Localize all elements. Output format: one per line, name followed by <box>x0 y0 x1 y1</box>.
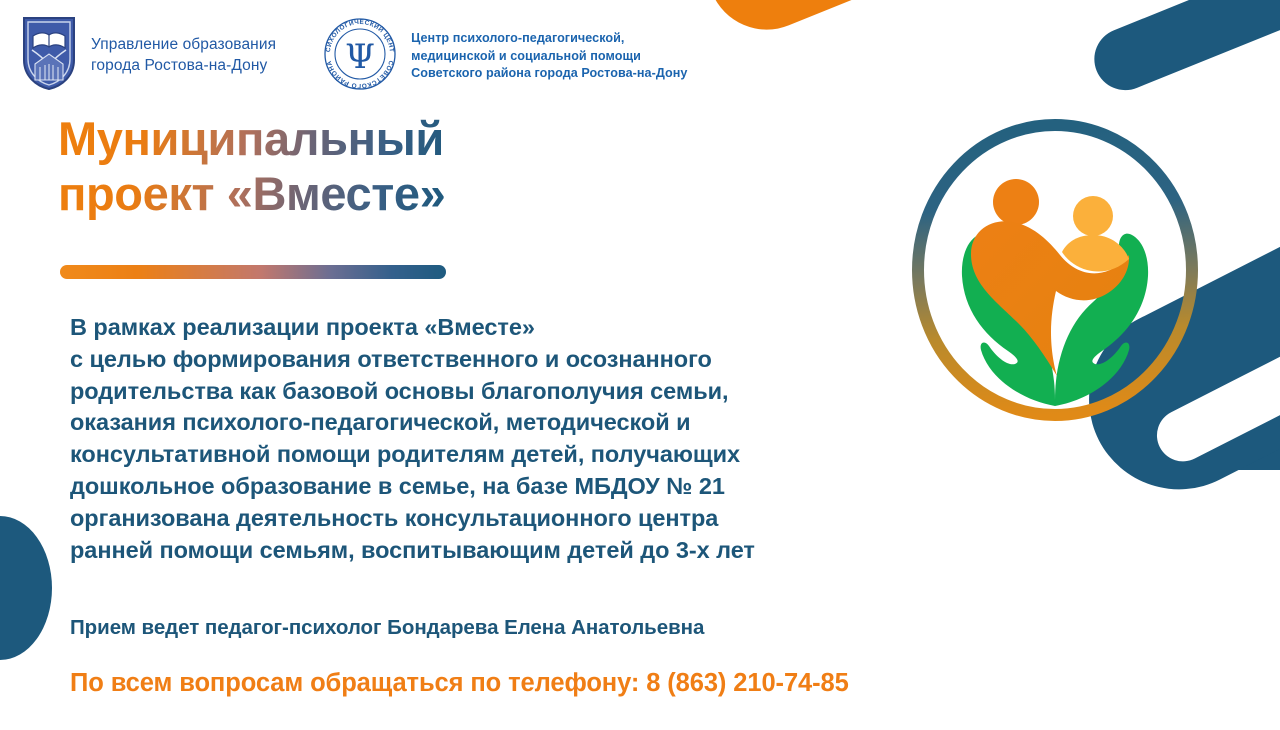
title-divider <box>60 265 446 279</box>
org2-line-2: медицинской и социальной помощи <box>411 48 687 66</box>
logo-child-figure <box>1062 196 1129 272</box>
project-description: В рамках реализации проекта «Вместе» с ц… <box>70 312 755 567</box>
poster-canvas: Управление образования города Ростова-на… <box>0 0 1280 730</box>
org1-line-1: Управление образования <box>91 35 276 55</box>
org2-line-3: Советского района города Ростова-на-Дону <box>411 65 687 83</box>
orange-diagonal-bar <box>690 0 1280 47</box>
blue-diagonal-bar-top <box>1085 0 1280 99</box>
org-education-department-label: Управление образования города Ростова-на… <box>91 35 276 75</box>
presenter-line: Прием ведет педагог-психолог Бондарева Е… <box>70 616 704 640</box>
blue-half-circle-left <box>0 516 52 660</box>
org1-line-2: города Ростова-на-Дону <box>91 56 276 76</box>
org-education-department: Управление образования города Ростова-на… <box>18 14 276 97</box>
header: Управление образования города Ростова-на… <box>18 14 687 99</box>
contact-phone-line: По всем вопросам обращаться по телефону:… <box>70 669 849 698</box>
page-title: Муниципальный проект «Вместе» <box>58 112 445 221</box>
org2-line-1: Центр психолого-педагогической, <box>411 30 687 48</box>
rostov-education-department-crest-icon <box>18 14 80 97</box>
psychological-center-psi-seal-icon: ПСИХОЛОГИЧЕСКИЙ ЦЕНТР СОВЕТСКОГО РАЙОНА … <box>320 14 400 99</box>
svg-text:Ψ: Ψ <box>345 37 375 77</box>
org-psychological-center: ПСИХОЛОГИЧЕСКИЙ ЦЕНТР СОВЕТСКОГО РАЙОНА … <box>320 14 687 99</box>
together-project-logo <box>905 118 1205 423</box>
org-psychological-center-label: Центр психолого-педагогической, медицинс… <box>411 30 687 84</box>
